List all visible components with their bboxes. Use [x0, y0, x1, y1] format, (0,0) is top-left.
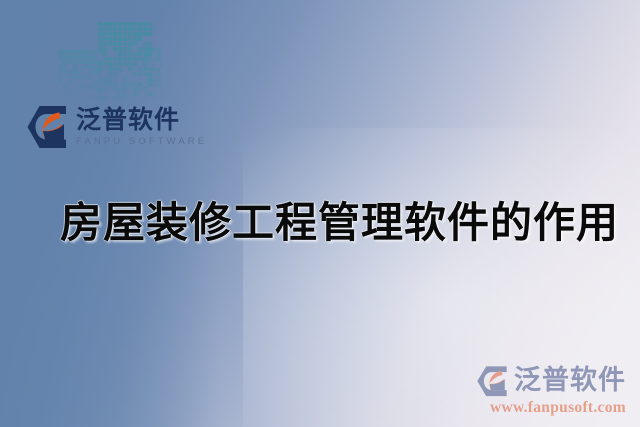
brand-name-en: FANPU SOFTWARE: [76, 137, 207, 147]
brand-logo-lockup: 泛普软件 FANPU SOFTWARE: [26, 105, 207, 149]
fanpu-shield-watermark-icon: [475, 364, 509, 398]
brand-text-block: 泛普软件 FANPU SOFTWARE: [76, 107, 207, 147]
watermark: 泛普软件 www.fanpusoft.com: [475, 364, 626, 416]
watermark-name-cn: 泛普软件: [514, 367, 626, 394]
watermark-logo-row: 泛普软件: [475, 364, 626, 398]
pixel-mosaic-decoration: [58, 22, 162, 100]
page-title: 房屋装修工程管理软件的作用: [60, 189, 619, 250]
fanpu-shield-logo-icon: [26, 105, 68, 149]
brand-name-cn: 泛普软件: [76, 107, 207, 132]
promo-banner: 泛普软件 FANPU SOFTWARE 房屋装修工程管理软件的作用 泛普软件 w…: [0, 0, 640, 427]
watermark-url: www.fanpusoft.com: [490, 400, 626, 416]
